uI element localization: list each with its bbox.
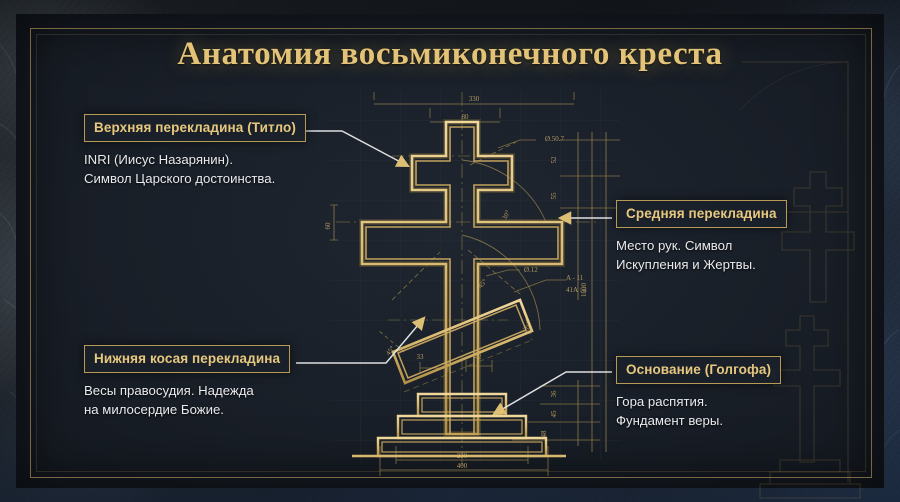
- callout-top-crossbar-desc: INRI (Иисус Назарянин). Символ Царского …: [84, 150, 306, 188]
- callout-lower-slanted-crossbar-desc: Весы правосудия. Надежда на милосердие Б…: [84, 381, 290, 419]
- slide-stage: Анатомия восьмиконечного креста: [0, 0, 900, 502]
- callout-base-golgotha[interactable]: Основание (Голгофа) Гора распятия. Фунда…: [616, 356, 781, 430]
- callout-middle-crossbar-chip[interactable]: Средняя перекладина: [616, 200, 787, 228]
- callout-base-golgotha-desc: Гора распятия. Фундамент веры.: [616, 392, 781, 430]
- page-title: Анатомия восьмиконечного креста: [0, 36, 900, 73]
- callout-middle-crossbar-desc: Место рук. Символ Искупления и Жертвы.: [616, 236, 787, 274]
- callout-base-golgotha-chip[interactable]: Основание (Голгофа): [616, 356, 781, 384]
- callout-lower-slanted-crossbar[interactable]: Нижняя косая перекладина Весы правосудия…: [84, 345, 290, 419]
- callout-lower-slanted-crossbar-chip[interactable]: Нижняя косая перекладина: [84, 345, 290, 373]
- callout-middle-crossbar[interactable]: Средняя перекладина Место рук. Символ Ис…: [616, 200, 787, 274]
- callout-top-crossbar-chip[interactable]: Верхняя перекладина (Титло): [84, 114, 306, 142]
- callout-top-crossbar[interactable]: Верхняя перекладина (Титло) INRI (Иисус …: [84, 114, 306, 188]
